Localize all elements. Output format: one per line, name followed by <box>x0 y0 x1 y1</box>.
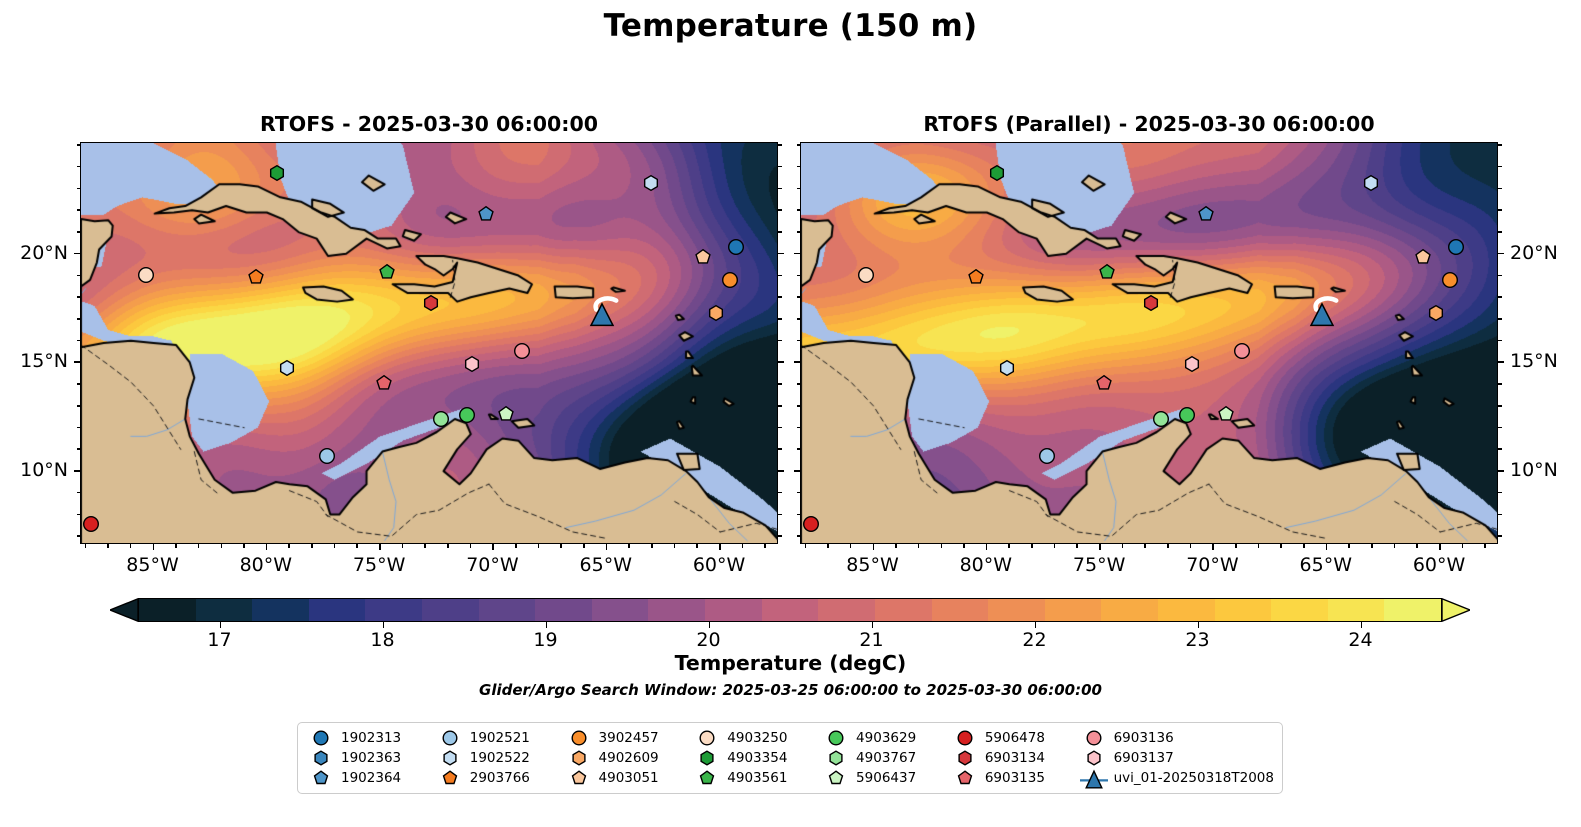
float-marker-6903134[interactable] <box>423 294 440 311</box>
float-marker-1902364[interactable] <box>477 205 494 222</box>
float-marker-3902457[interactable] <box>1442 271 1459 288</box>
x-minor-tick <box>85 544 87 548</box>
y-tick-label: 10°N <box>0 459 68 481</box>
y-tick <box>778 253 784 255</box>
float-marker-2903766[interactable] <box>247 268 264 285</box>
x-tick-label: 80°W <box>960 554 1012 576</box>
colorbar-tick <box>546 622 548 628</box>
circle-marker-icon <box>952 728 978 748</box>
colorbar-segment <box>762 599 819 621</box>
legend-entry-6903137[interactable]: 6903137 <box>1081 748 1274 768</box>
y-minor-tick <box>778 166 782 168</box>
x-minor-tick <box>1235 544 1237 548</box>
float-marker-1902522[interactable] <box>643 175 660 192</box>
x-minor-tick <box>221 544 223 548</box>
legend-label: 1902521 <box>470 730 530 746</box>
x-minor-tick <box>1054 544 1056 548</box>
hexagon-marker-icon <box>437 748 463 768</box>
y-minor-tick <box>797 383 801 385</box>
x-minor-tick <box>696 544 698 548</box>
x-tick-label: 65°W <box>1300 554 1352 576</box>
float-marker-6903134[interactable] <box>1143 294 1160 311</box>
colorbar-tick <box>1198 622 1200 628</box>
y-minor-tick <box>797 231 801 233</box>
x-tick <box>153 544 155 550</box>
x-minor-tick <box>447 544 449 548</box>
legend-label: 6903134 <box>985 750 1045 766</box>
x-minor-tick <box>243 544 245 548</box>
y-minor-tick <box>77 166 81 168</box>
float-marker-4902609[interactable] <box>707 304 724 321</box>
y-minor-tick <box>778 188 782 190</box>
legend-entry-4903250[interactable]: 4903250 <box>694 728 823 748</box>
x-minor-tick <box>941 544 943 548</box>
x-minor-tick <box>424 544 426 548</box>
y-minor-tick <box>778 275 782 277</box>
figure-root: Temperature (150 m) RTOFS - 2025-03-30 0… <box>0 0 1581 827</box>
glider-marker-uvi_01-20250318T2008[interactable] <box>588 301 616 326</box>
map-axes-left[interactable] <box>80 142 778 544</box>
x-minor-tick <box>827 544 829 548</box>
x-minor-tick <box>1008 544 1010 548</box>
float-marker-4903767[interactable] <box>1153 411 1170 428</box>
legend-entry-4903629[interactable]: 4903629 <box>823 728 952 748</box>
x-tick-label: 60°W <box>1413 554 1465 576</box>
legend-entry-1902522[interactable]: 1902522 <box>437 748 566 768</box>
x-minor-tick <box>805 544 807 548</box>
y-tick-label: 10°N <box>1510 459 1558 481</box>
glider-track-left <box>81 143 778 544</box>
pentagon-marker-icon <box>308 768 334 788</box>
y-minor-tick <box>778 535 782 537</box>
legend-entry-4903354[interactable]: 4903354 <box>694 748 823 768</box>
colorbar-tick-label: 23 <box>1185 629 1209 651</box>
x-minor-tick <box>1280 544 1282 548</box>
y-minor-tick <box>1498 448 1502 450</box>
y-minor-tick <box>797 427 801 429</box>
y-minor-tick <box>1498 209 1502 211</box>
x-tick <box>1439 544 1441 550</box>
legend-label: 1902363 <box>341 750 401 766</box>
x-minor-tick <box>1416 544 1418 548</box>
y-tick <box>778 361 784 363</box>
x-minor-tick <box>560 544 562 548</box>
y-minor-tick <box>1498 492 1502 494</box>
x-minor-tick <box>175 544 177 548</box>
float-marker-4903561[interactable] <box>1098 264 1115 281</box>
y-minor-tick <box>1498 383 1502 385</box>
x-tick-label: 60°W <box>693 554 745 576</box>
y-minor-tick <box>797 296 801 298</box>
colorbar-label: Temperature (degC) <box>0 651 1581 675</box>
x-tick <box>1212 544 1214 550</box>
y-minor-tick <box>77 209 81 211</box>
y-tick <box>778 470 784 472</box>
legend-entry-5906478[interactable]: 5906478 <box>952 728 1081 748</box>
x-tick-label: 70°W <box>466 554 518 576</box>
figure-title: Temperature (150 m) <box>0 8 1581 44</box>
pentagon-marker-icon <box>823 768 849 788</box>
legend-entry-6903135[interactable]: 6903135 <box>952 768 1081 788</box>
y-tick <box>74 253 80 255</box>
x-tick <box>492 544 494 550</box>
colorbar-segment <box>309 599 366 621</box>
float-marker-6903137[interactable] <box>463 355 480 372</box>
pentagon-marker-icon <box>437 768 463 788</box>
float-marker-4903354[interactable] <box>989 165 1006 182</box>
y-minor-tick <box>778 492 782 494</box>
x-minor-tick <box>515 544 517 548</box>
colorbar-tick <box>1035 622 1037 628</box>
float-marker-5906478[interactable] <box>83 516 100 533</box>
colorbar-tick <box>709 622 711 628</box>
legend-entry-1902521[interactable]: 1902521 <box>437 728 566 748</box>
circle-marker-icon <box>694 728 720 748</box>
x-minor-tick <box>1144 544 1146 548</box>
legend-entry-4903051[interactable]: 4903051 <box>566 768 695 788</box>
x-minor-tick <box>538 544 540 548</box>
float-marker-3902457[interactable] <box>722 271 739 288</box>
y-minor-tick <box>1498 535 1502 537</box>
colorbar-segment <box>365 599 422 621</box>
legend-label: 4903561 <box>727 770 787 786</box>
x-minor-tick <box>963 544 965 548</box>
x-minor-tick <box>742 544 744 548</box>
y-minor-tick <box>77 427 81 429</box>
legend-entry-5906437[interactable]: 5906437 <box>823 768 952 788</box>
float-marker-1902522[interactable] <box>1363 175 1380 192</box>
legend-entry-3902457[interactable]: 3902457 <box>566 728 695 748</box>
x-minor-tick <box>1122 544 1124 548</box>
x-tick <box>266 544 268 550</box>
float-marker-5906437[interactable] <box>1217 405 1234 422</box>
legend-label: 6903137 <box>1114 750 1174 766</box>
y-minor-tick <box>1498 275 1502 277</box>
x-minor-tick <box>674 544 676 548</box>
float-marker-6903135[interactable] <box>1095 375 1112 392</box>
x-tick <box>873 544 875 550</box>
x-minor-tick <box>895 544 897 548</box>
y-minor-tick <box>797 340 801 342</box>
y-minor-tick <box>797 492 801 494</box>
y-minor-tick <box>797 144 801 146</box>
colorbar-segment <box>1158 599 1215 621</box>
legend-entry-6903136[interactable]: 6903136 <box>1081 728 1274 748</box>
legend-label: 1902364 <box>341 770 401 786</box>
glider-track-right <box>801 143 1498 544</box>
legend-label: 5906437 <box>856 770 916 786</box>
y-minor-tick <box>77 405 81 407</box>
hexagon-marker-icon <box>308 748 334 768</box>
legend-entry-2903766[interactable]: 2903766 <box>437 768 566 788</box>
y-minor-tick <box>797 448 801 450</box>
y-minor-tick <box>1498 514 1502 516</box>
float-marker-2903766[interactable] <box>967 268 984 285</box>
y-minor-tick <box>1498 144 1502 146</box>
colorbar-segment <box>592 599 649 621</box>
colorbar-segment <box>1045 599 1102 621</box>
colorbar-extend-high <box>1442 598 1470 622</box>
legend-label: 4903629 <box>856 730 916 746</box>
x-minor-tick <box>288 544 290 548</box>
colorbar-segment <box>1271 599 1328 621</box>
x-minor-tick <box>1167 544 1169 548</box>
hexagon-marker-icon <box>1081 748 1107 768</box>
colorbar-tick <box>220 622 222 628</box>
y-minor-tick <box>797 318 801 320</box>
y-tick <box>1498 253 1504 255</box>
y-tick <box>1498 470 1504 472</box>
y-minor-tick <box>77 340 81 342</box>
y-minor-tick <box>77 492 81 494</box>
y-minor-tick <box>77 535 81 537</box>
y-tick-label: 15°N <box>1510 350 1558 372</box>
y-tick <box>74 470 80 472</box>
legend-entry-6903134[interactable]: 6903134 <box>952 748 1081 768</box>
x-minor-tick <box>628 544 630 548</box>
float-marker-6903135[interactable] <box>375 375 392 392</box>
y-minor-tick <box>77 514 81 516</box>
float-marker-6903136[interactable] <box>1233 342 1250 359</box>
colorbar-segment <box>932 599 989 621</box>
hexagon-marker-icon <box>566 748 592 768</box>
legend-label: 2903766 <box>470 770 530 786</box>
colorbar-tick <box>383 622 385 628</box>
x-tick-label: 75°W <box>353 554 405 576</box>
colorbar-segment <box>1101 599 1158 621</box>
legend-label: 6903136 <box>1114 730 1174 746</box>
legend-entry-uvi_01-20250318T2008[interactable]: uvi_01-20250318T2008 <box>1081 768 1274 788</box>
legend-entry-4903561[interactable]: 4903561 <box>694 768 823 788</box>
x-minor-tick <box>850 544 852 548</box>
legend-entry-1902364[interactable]: 1902364 <box>308 768 437 788</box>
x-minor-tick <box>1190 544 1192 548</box>
x-tick <box>606 544 608 550</box>
pentagon-marker-icon <box>694 768 720 788</box>
y-minor-tick <box>778 448 782 450</box>
float-marker-4903561[interactable] <box>378 264 395 281</box>
y-minor-tick <box>778 231 782 233</box>
x-minor-tick <box>1258 544 1260 548</box>
y-minor-tick <box>778 340 782 342</box>
legend-grid: 1902313 1902363 1902364 1902521 1902522 … <box>298 723 1282 793</box>
panel-title-right: RTOFS (Parallel) - 2025-03-30 06:00:00 <box>800 112 1498 136</box>
float-marker-1902522b[interactable] <box>279 359 296 376</box>
hexagon-marker-icon <box>694 748 720 768</box>
pentagon-marker-icon <box>566 768 592 788</box>
hexagon-marker-icon <box>823 748 849 768</box>
y-tick <box>794 470 800 472</box>
panel-title-left: RTOFS - 2025-03-30 06:00:00 <box>80 112 778 136</box>
circle-marker-icon <box>308 728 334 748</box>
y-minor-tick <box>1498 427 1502 429</box>
x-minor-tick <box>130 544 132 548</box>
y-minor-tick <box>778 209 782 211</box>
colorbar-segment <box>705 599 762 621</box>
y-minor-tick <box>778 405 782 407</box>
y-minor-tick <box>77 275 81 277</box>
y-minor-tick <box>1498 340 1502 342</box>
y-minor-tick <box>778 514 782 516</box>
y-minor-tick <box>778 383 782 385</box>
float-marker-4903629[interactable] <box>459 406 476 423</box>
y-minor-tick <box>77 383 81 385</box>
y-minor-tick <box>778 144 782 146</box>
x-minor-tick <box>402 544 404 548</box>
colorbar-tick-label: 24 <box>1348 629 1372 651</box>
colorbar-tick <box>872 622 874 628</box>
y-minor-tick <box>1498 231 1502 233</box>
y-minor-tick <box>1498 318 1502 320</box>
legend-label: 1902313 <box>341 730 401 746</box>
x-tick <box>379 544 381 550</box>
float-marker-4903354[interactable] <box>269 165 286 182</box>
colorbar-segment <box>1384 599 1441 621</box>
float-marker-6903137[interactable] <box>1183 355 1200 372</box>
y-tick <box>1498 361 1504 363</box>
x-tick <box>1326 544 1328 550</box>
legend[interactable]: 1902313 1902363 1902364 1902521 1902522 … <box>297 722 1283 794</box>
hexagon-marker-icon <box>952 748 978 768</box>
x-tick <box>1099 544 1101 550</box>
x-tick <box>719 544 721 550</box>
x-minor-tick <box>583 544 585 548</box>
glider-marker-icon <box>1081 768 1107 788</box>
y-minor-tick <box>1498 405 1502 407</box>
colorbar-gradient <box>138 598 1442 622</box>
x-minor-tick <box>1076 544 1078 548</box>
legend-label: 6903135 <box>985 770 1045 786</box>
float-marker-1902313[interactable] <box>727 239 744 256</box>
legend-label: 3902457 <box>599 730 659 746</box>
y-minor-tick <box>77 296 81 298</box>
y-minor-tick <box>797 209 801 211</box>
x-minor-tick <box>1484 544 1486 548</box>
x-minor-tick <box>1303 544 1305 548</box>
float-marker-4903250[interactable] <box>137 266 154 283</box>
y-tick <box>794 361 800 363</box>
y-minor-tick <box>77 144 81 146</box>
float-marker-1902364[interactable] <box>1197 205 1214 222</box>
x-tick-label: 85°W <box>126 554 178 576</box>
float-marker-1902313[interactable] <box>1447 239 1464 256</box>
legend-label: 4903767 <box>856 750 916 766</box>
colorbar-segment <box>1215 599 1272 621</box>
legend-label: 4902609 <box>599 750 659 766</box>
circle-marker-icon <box>823 728 849 748</box>
y-tick-label: 20°N <box>1510 242 1558 264</box>
x-minor-tick <box>918 544 920 548</box>
float-marker-4903767[interactable] <box>433 411 450 428</box>
y-minor-tick <box>77 188 81 190</box>
y-tick <box>794 253 800 255</box>
colorbar-segment <box>875 599 932 621</box>
x-tick-label: 75°W <box>1073 554 1125 576</box>
float-marker-6903136[interactable] <box>513 342 530 359</box>
float-marker-4903051[interactable] <box>695 249 712 266</box>
y-minor-tick <box>77 318 81 320</box>
y-minor-tick <box>77 231 81 233</box>
y-minor-tick <box>77 448 81 450</box>
legend-label: 4903051 <box>599 770 659 786</box>
float-marker-4903629[interactable] <box>1179 406 1196 423</box>
x-minor-tick <box>356 544 358 548</box>
float-marker-4902609[interactable] <box>1427 304 1444 321</box>
y-minor-tick <box>797 514 801 516</box>
map-axes-right[interactable] <box>800 142 1498 544</box>
legend-entry-1902363[interactable]: 1902363 <box>308 748 437 768</box>
colorbar-tick-label: 18 <box>370 629 394 651</box>
colorbar-segment <box>535 599 592 621</box>
colorbar-segment <box>648 599 705 621</box>
circle-marker-icon <box>1081 728 1107 748</box>
float-marker-4903250[interactable] <box>857 266 874 283</box>
pentagon-marker-icon <box>952 768 978 788</box>
float-marker-1902521[interactable] <box>1038 447 1055 464</box>
y-minor-tick <box>797 188 801 190</box>
y-minor-tick <box>778 427 782 429</box>
colorbar-segment <box>139 599 196 621</box>
legend-label: 4903250 <box>727 730 787 746</box>
colorbar-tick-label: 20 <box>696 629 720 651</box>
x-tick-label: 85°W <box>846 554 898 576</box>
x-minor-tick <box>1348 544 1350 548</box>
x-tick-label: 65°W <box>580 554 632 576</box>
y-tick-label: 20°N <box>0 242 68 264</box>
legend-label: 1902522 <box>470 750 530 766</box>
colorbar-tick-label: 17 <box>207 629 231 651</box>
y-minor-tick <box>797 166 801 168</box>
colorbar-tick <box>1361 622 1363 628</box>
x-minor-tick <box>1371 544 1373 548</box>
legend-label: 4903354 <box>727 750 787 766</box>
colorbar-segment <box>1328 599 1385 621</box>
float-marker-1902521[interactable] <box>318 447 335 464</box>
legend-label: uvi_01-20250318T2008 <box>1114 770 1274 786</box>
colorbar-segment <box>196 599 253 621</box>
y-minor-tick <box>778 296 782 298</box>
colorbar-segment <box>479 599 536 621</box>
colorbar-segment <box>252 599 309 621</box>
colorbar-segment <box>818 599 875 621</box>
float-marker-5906478[interactable] <box>803 516 820 533</box>
colorbar: 1718192021222324 <box>110 598 1470 622</box>
colorbar-tick-label: 22 <box>1022 629 1046 651</box>
x-minor-tick <box>470 544 472 548</box>
y-minor-tick <box>1498 166 1502 168</box>
float-marker-5906437[interactable] <box>497 405 514 422</box>
x-minor-tick <box>764 544 766 548</box>
x-minor-tick <box>107 544 109 548</box>
legend-entry-1902313[interactable]: 1902313 <box>308 728 437 748</box>
colorbar-tick-label: 19 <box>533 629 557 651</box>
x-minor-tick <box>334 544 336 548</box>
x-tick-label: 80°W <box>240 554 292 576</box>
float-marker-1902522b[interactable] <box>999 359 1016 376</box>
y-minor-tick <box>1498 296 1502 298</box>
y-minor-tick <box>797 405 801 407</box>
legend-entry-4902609[interactable]: 4902609 <box>566 748 695 768</box>
circle-marker-icon <box>437 728 463 748</box>
x-minor-tick <box>311 544 313 548</box>
colorbar-tick-label: 21 <box>859 629 883 651</box>
colorbar-extend-low <box>110 598 138 622</box>
y-minor-tick <box>797 275 801 277</box>
glider-marker-uvi_01-20250318T2008[interactable] <box>1308 301 1336 326</box>
x-minor-tick <box>1394 544 1396 548</box>
legend-entry-4903767[interactable]: 4903767 <box>823 748 952 768</box>
float-marker-4903051[interactable] <box>1415 249 1432 266</box>
